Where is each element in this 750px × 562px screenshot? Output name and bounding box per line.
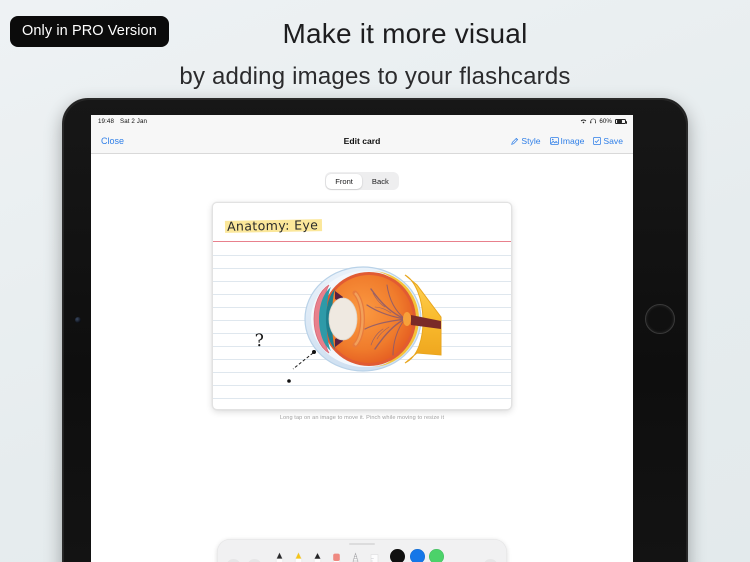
image-button[interactable]: Image [550,136,585,146]
annotation-question-mark: ? [254,331,264,351]
highlighter-tool[interactable] [293,551,304,562]
drawing-toolbar[interactable] [217,539,507,562]
tab-front[interactable]: Front [326,174,362,189]
editor-hint-text: Long tap on an image to move it. Pinch w… [91,415,633,421]
lasso-tool[interactable] [350,551,361,562]
battery-icon [615,119,626,125]
undo-icon[interactable] [226,559,241,562]
save-button-label: Save [603,136,623,146]
pen-tool[interactable] [274,551,285,562]
color-swatch-black[interactable] [390,549,405,562]
ruler-tool[interactable] [369,551,380,562]
style-button-label: Style [521,136,540,146]
front-camera-icon [75,317,81,323]
front-back-segmented-control[interactable]: Front Back [325,172,400,190]
promo-headline: Make it more visual by adding images to … [0,16,750,93]
color-palette[interactable] [390,549,444,562]
card-margin-line [213,241,511,242]
photo-image-icon [550,137,559,145]
style-button[interactable]: Style [511,136,540,146]
headline-primary: Make it more visual [60,16,750,51]
redo-icon[interactable] [247,559,262,562]
device-screen: 19:48 Sat 2 Jan 60% Close Edit car [91,115,633,562]
image-button-label: Image [561,136,585,146]
promo-screenshot: Only in PRO Version Make it more visual … [0,0,750,562]
more-options-icon[interactable] [483,559,498,562]
wifi-icon [580,118,587,126]
color-swatch-green[interactable] [429,549,444,562]
headphones-icon [590,118,597,126]
eye-anatomy-image[interactable] [285,255,445,383]
ipad-device-frame: 19:48 Sat 2 Jan 60% Close Edit car [62,98,688,562]
editor-content: Front Back [91,172,633,562]
marker-tool[interactable] [312,551,323,562]
battery-percent-label: 60% [599,118,612,125]
tab-back[interactable]: Back [363,174,398,189]
home-button-icon[interactable] [645,304,675,334]
status-time: 19:48 [98,118,114,125]
card-title-handwritten: Anatomy: Eye [225,217,323,235]
pen-style-icon [511,137,519,145]
color-swatch-blue[interactable] [410,549,425,562]
eraser-tool[interactable] [331,551,342,562]
headline-secondary: by adding images to your flashcards [0,61,750,93]
flashcard-canvas[interactable]: Anatomy: Eye [212,202,512,410]
status-bar: 19:48 Sat 2 Jan 60% [91,115,633,128]
save-button[interactable]: Save [593,136,623,146]
status-date: Sat 2 Jan [120,118,147,125]
navigation-bar: Close Edit card Style Image [91,128,633,154]
checkbox-save-icon [593,137,601,145]
